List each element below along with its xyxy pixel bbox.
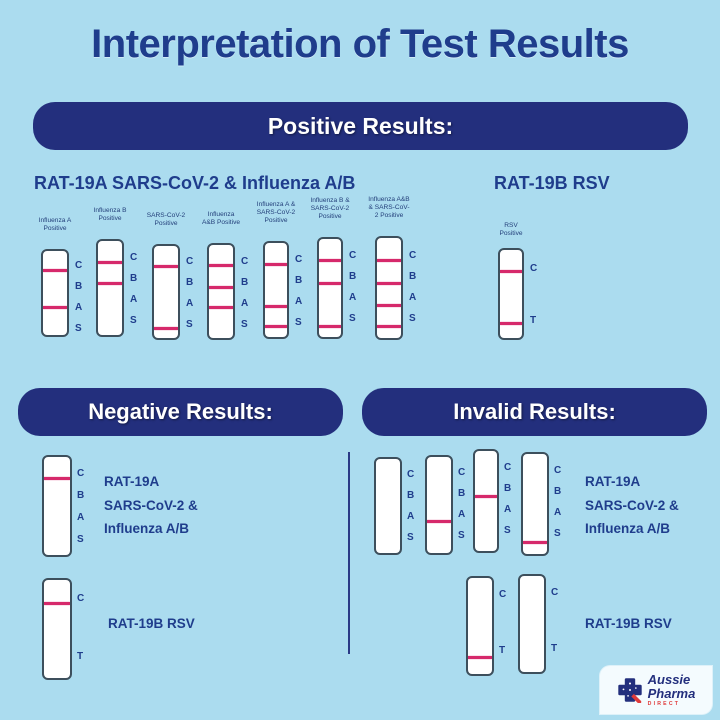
cassette-caption: Influenza A Positive [28, 217, 82, 233]
cassette-window [425, 455, 453, 555]
result-band-c [98, 261, 122, 264]
cassette-window [498, 248, 524, 340]
test-cassette: Influenza A&B & SARS-CoV- 2 PositiveCBAS [375, 236, 403, 340]
result-band-b [377, 282, 401, 285]
cassette-caption: Influenza A & SARS-CoV-2 Positive [249, 201, 303, 226]
test-cassette: Influenza B & SARS-CoV-2 PositiveCBAS [317, 237, 343, 339]
banner-negative-results: Negative Results: [18, 388, 343, 436]
result-band-s [265, 325, 287, 328]
marker-letter-s: S [458, 531, 465, 541]
marker-letters: CBAS [241, 257, 248, 330]
marker-letter-a: A [458, 510, 465, 520]
marker-letter-c: C [186, 257, 193, 267]
banner-negative-label: Negative Results: [88, 399, 273, 425]
heading-rat-19b: RAT-19B RSV [494, 173, 610, 194]
marker-letter-a: A [554, 508, 561, 518]
page-title: Interpretation of Test Results [0, 22, 720, 67]
marker-letter-s: S [554, 529, 561, 539]
result-band-t [500, 322, 522, 325]
marker-letter-c: C [241, 257, 248, 267]
marker-letter-a: A [349, 293, 356, 303]
logo-line-3: DIRECT [648, 702, 696, 707]
marker-letter-c: C [77, 594, 84, 604]
marker-letters: CT [530, 264, 537, 326]
medical-cross-icon [617, 677, 643, 703]
cassette-window [521, 452, 549, 556]
test-cassette: CBAS [42, 455, 72, 557]
marker-letters: CBAS [407, 470, 414, 543]
marker-letter-b: B [130, 274, 137, 284]
cassette-window [263, 241, 289, 339]
result-band-c [43, 269, 67, 272]
cassette-window [42, 578, 72, 680]
negative-rat19a-label: RAT-19A SARS-CoV-2 & Influenza A/B [104, 470, 198, 541]
marker-letter-a: A [241, 299, 248, 309]
marker-letter-s: S [504, 526, 511, 536]
marker-letter-s: S [130, 316, 137, 326]
marker-letters: CBAS [130, 253, 137, 326]
test-cassette: CBAS [374, 457, 402, 555]
result-band-b [98, 282, 122, 285]
test-cassette: Influenza B PositiveCBAS [96, 239, 124, 337]
result-band-c [44, 477, 70, 480]
banner-positive-label: Positive Results: [268, 113, 453, 140]
marker-letter-s: S [295, 318, 302, 328]
marker-letter-a: A [186, 299, 193, 309]
marker-letter-b: B [349, 272, 356, 282]
cassette-window [42, 455, 72, 557]
marker-letter-c: C [458, 468, 465, 478]
marker-letter-c: C [75, 261, 82, 271]
marker-letter-a: A [295, 297, 302, 307]
cassette-window [207, 243, 235, 340]
result-band-c [154, 265, 178, 268]
marker-letters: CBAS [458, 468, 465, 541]
marker-letter-s: S [186, 320, 193, 330]
marker-letters: CT [77, 594, 84, 662]
logo-line-2: Pharma [648, 687, 696, 700]
marker-letter-s: S [241, 320, 248, 330]
brand-logo: Aussie Pharma DIRECT [600, 666, 712, 714]
marker-letter-a: A [407, 512, 414, 522]
marker-letters: CBAS [504, 463, 511, 536]
marker-letter-b: B [75, 282, 82, 292]
cassette-caption: Influenza B & SARS-CoV-2 Positive [303, 197, 357, 222]
marker-letter-b: B [407, 491, 414, 501]
marker-letter-b: B [458, 489, 465, 499]
result-band-a [265, 305, 287, 308]
poster-root: Interpretation of Test Results Positive … [0, 0, 720, 720]
cassette-window [317, 237, 343, 339]
marker-letter-s: S [407, 533, 414, 543]
marker-letter-c: C [295, 255, 302, 265]
cassette-window [473, 449, 499, 553]
cassette-caption: SARS-CoV-2 Positive [139, 212, 193, 228]
marker-letter-c: C [551, 588, 558, 598]
marker-letter-c: C [77, 469, 84, 479]
test-cassette: Influenza A PositiveCBAS [41, 249, 69, 337]
negative-rat19b-label: RAT-19B RSV [108, 612, 195, 636]
marker-letter-c: C [130, 253, 137, 263]
marker-letter-c: C [499, 590, 506, 600]
result-band-c [500, 270, 522, 273]
logo-line-1: Aussie [648, 673, 696, 686]
test-cassette: CBAS [521, 452, 549, 556]
result-band-c [377, 259, 401, 262]
marker-letters: CBAS [554, 466, 561, 539]
marker-letter-c: C [349, 251, 356, 261]
cassette-window [466, 576, 494, 676]
marker-letter-t: T [499, 646, 506, 656]
marker-letter-b: B [186, 278, 193, 288]
marker-letters: CBAS [75, 261, 82, 334]
marker-letter-c: C [504, 463, 511, 473]
result-band-c [209, 264, 233, 267]
marker-letters: CBAS [349, 251, 356, 324]
cassette-window [375, 236, 403, 340]
test-cassette: RSV PositiveCT [498, 248, 524, 340]
marker-letter-c: C [409, 251, 416, 261]
result-band-c [44, 602, 70, 605]
cassette-caption: RSV Positive [488, 222, 534, 238]
result-band-a [377, 304, 401, 307]
marker-letter-t: T [551, 644, 558, 654]
logo-wordmark: Aussie Pharma DIRECT [648, 673, 696, 707]
marker-letter-c: C [554, 466, 561, 476]
marker-letters: CBAS [186, 257, 193, 330]
section-divider [348, 452, 350, 654]
test-cassette: Influenza A & SARS-CoV-2 PositiveCBAS [263, 241, 289, 339]
cassette-caption: Influenza A&B & SARS-CoV- 2 Positive [362, 196, 416, 221]
marker-letter-a: A [409, 293, 416, 303]
result-band-a [427, 520, 451, 523]
result-band-s [154, 327, 178, 330]
result-band-s [377, 325, 401, 328]
marker-letter-c: C [530, 264, 537, 274]
heading-rat-19a: RAT-19A SARS-CoV-2 & Influenza A/B [34, 173, 355, 194]
marker-letter-a: A [75, 303, 82, 313]
result-band-b [319, 282, 341, 285]
cassette-caption: Influenza B Positive [83, 207, 137, 223]
banner-invalid-label: Invalid Results: [453, 399, 616, 425]
marker-letters: CBAS [409, 251, 416, 324]
marker-letter-s: S [75, 324, 82, 334]
cassette-window [518, 574, 546, 674]
marker-letter-a: A [504, 505, 511, 515]
banner-positive-results: Positive Results: [33, 102, 688, 150]
test-cassette: CBAS [425, 455, 453, 555]
result-band-s [319, 325, 341, 328]
marker-letters: CBAS [77, 469, 84, 545]
cassette-window [374, 457, 402, 555]
marker-letter-t: T [77, 652, 84, 662]
result-band-b [209, 286, 233, 289]
marker-letter-a: A [77, 513, 84, 523]
test-cassette: CT [518, 574, 546, 674]
cassette-caption: Influenza A&B Positive [194, 211, 248, 227]
result-band-a [43, 306, 67, 309]
invalid-rat19a-label: RAT-19A SARS-CoV-2 & Influenza A/B [585, 470, 679, 541]
result-band-c [319, 259, 341, 262]
test-cassette: CBAS [473, 449, 499, 553]
test-cassette: SARS-CoV-2 PositiveCBAS [152, 244, 180, 340]
test-cassette: CT [42, 578, 72, 680]
result-band-s [523, 541, 547, 544]
cassette-window [96, 239, 124, 337]
marker-letter-c: C [407, 470, 414, 480]
marker-letter-a: A [130, 295, 137, 305]
test-cassette: CT [466, 576, 494, 676]
marker-letter-s: S [77, 535, 84, 545]
marker-letter-t: T [530, 316, 537, 326]
marker-letter-b: B [504, 484, 511, 494]
test-cassette: Influenza A&B PositiveCBAS [207, 243, 235, 340]
cassette-window [152, 244, 180, 340]
marker-letter-b: B [409, 272, 416, 282]
marker-letter-s: S [409, 314, 416, 324]
marker-letters: CT [499, 590, 506, 656]
marker-letters: CBAS [295, 255, 302, 328]
marker-letter-s: S [349, 314, 356, 324]
cassette-window [41, 249, 69, 337]
result-band-c [265, 263, 287, 266]
result-band-t [468, 656, 492, 659]
invalid-rat19b-label: RAT-19B RSV [585, 612, 672, 636]
result-band-a [209, 306, 233, 309]
marker-letter-b: B [77, 491, 84, 501]
marker-letter-b: B [241, 278, 248, 288]
result-band-b [475, 495, 497, 498]
marker-letter-b: B [554, 487, 561, 497]
marker-letters: CT [551, 588, 558, 654]
banner-invalid-results: Invalid Results: [362, 388, 707, 436]
marker-letter-b: B [295, 276, 302, 286]
